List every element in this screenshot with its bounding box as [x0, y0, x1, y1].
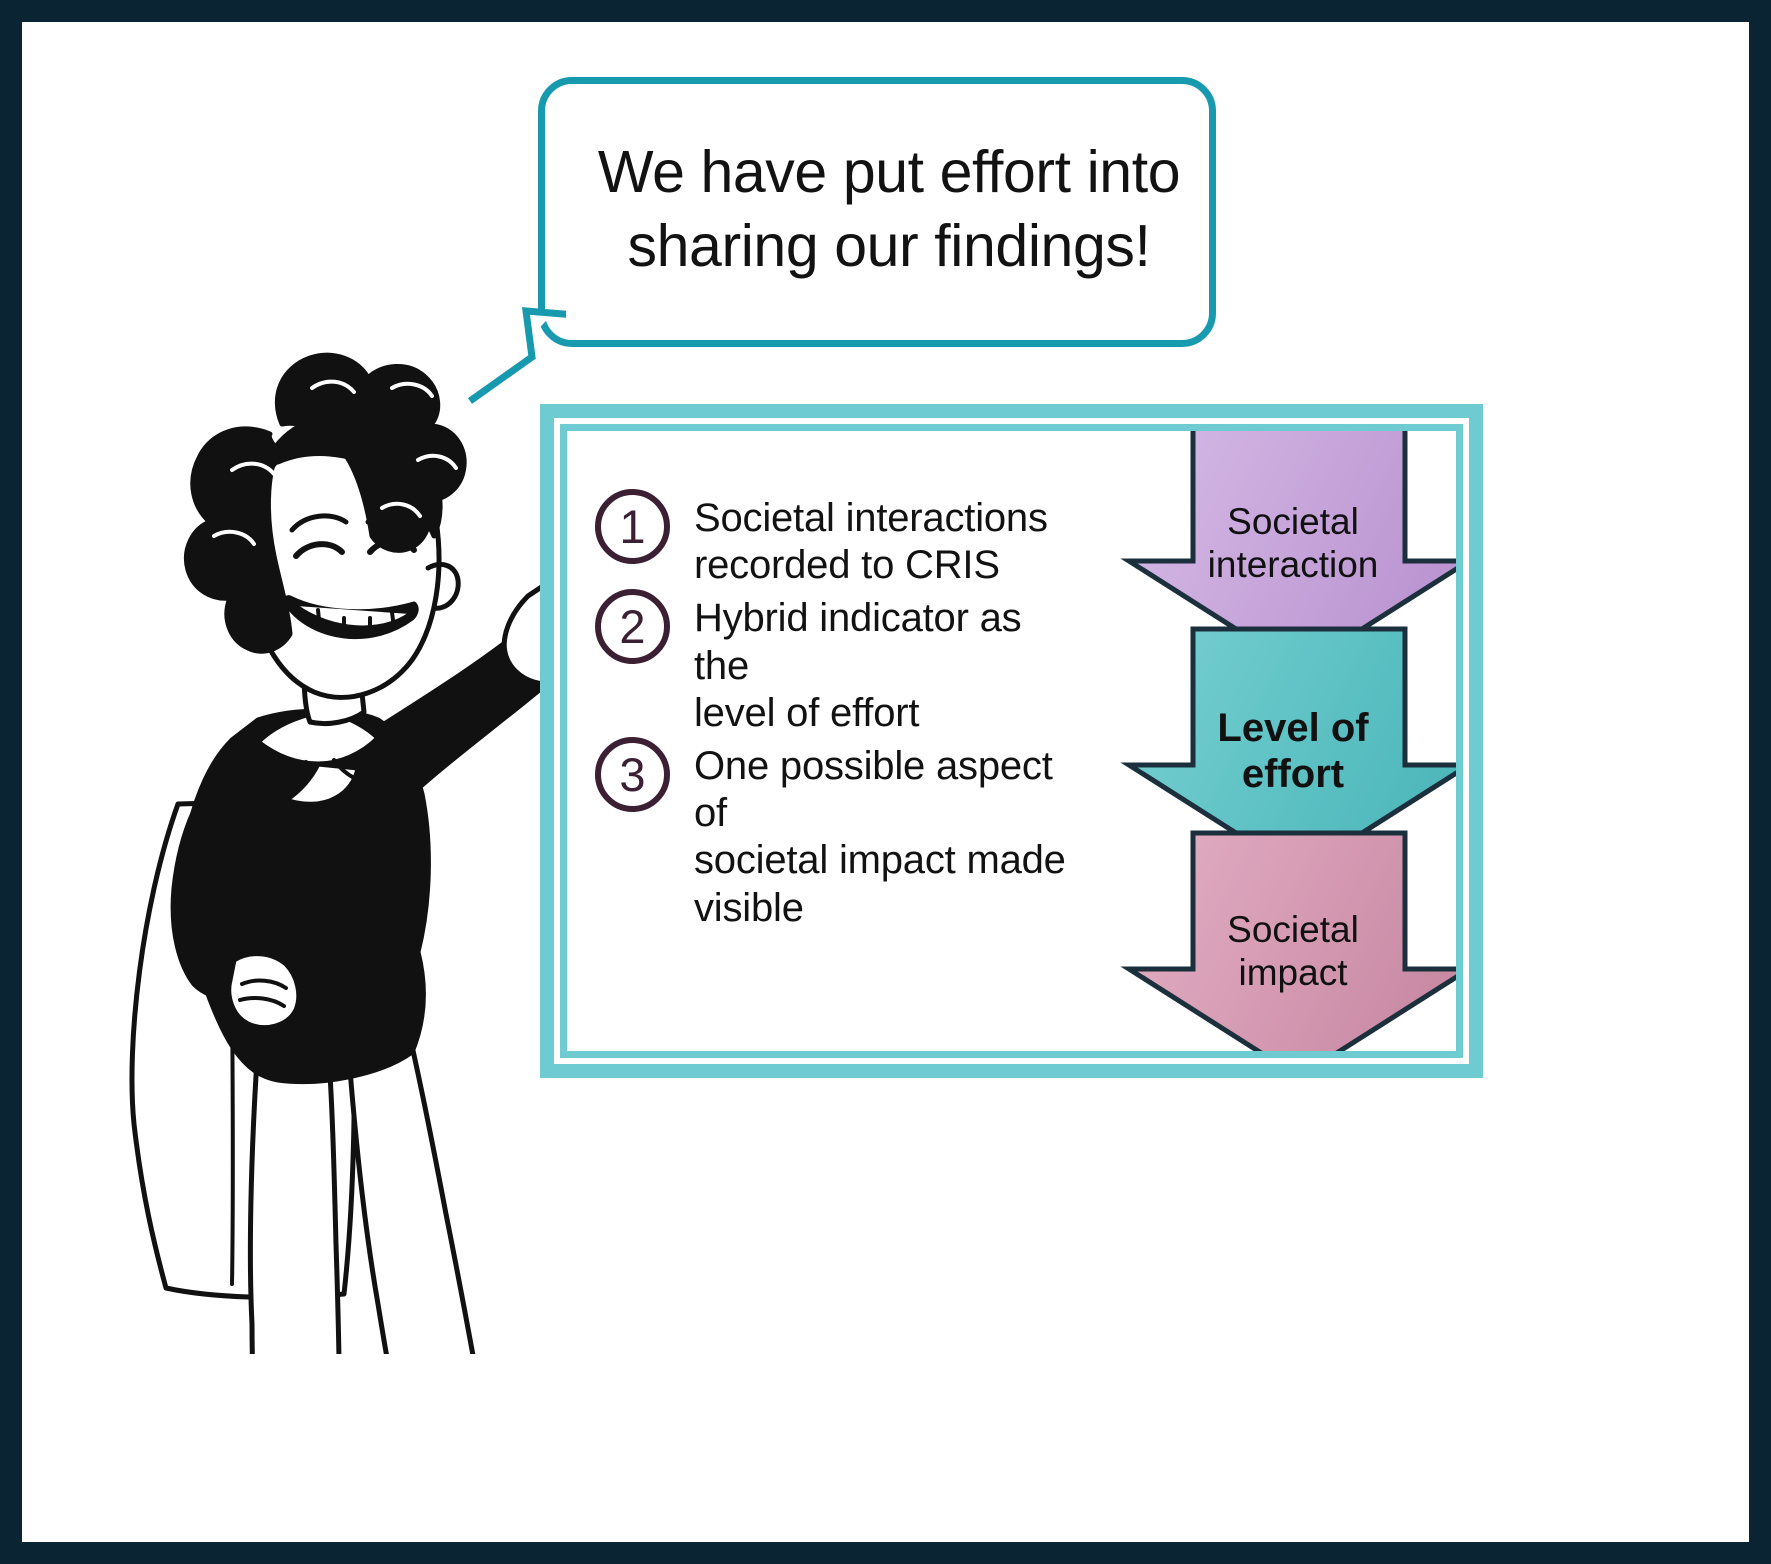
- number-badge-1: 1: [595, 489, 670, 564]
- slide-frame: We have put effort into sharing our find…: [0, 0, 1771, 1564]
- speech-bubble: We have put effort into sharing our find…: [538, 77, 1216, 347]
- list-item-text-3: One possible aspect of societal impact m…: [694, 737, 1085, 932]
- list-item: 1 Societal interactions recorded to CRIS: [595, 489, 1085, 589]
- speech-bubble-text: We have put effort into sharing our find…: [590, 135, 1188, 284]
- number-badge-3: 3: [595, 737, 670, 812]
- info-panel: 1 Societal interactions recorded to CRIS…: [540, 404, 1483, 1078]
- list-item-text-1: Societal interactions recorded to CRIS: [694, 489, 1048, 589]
- panel-inner-ring: 1 Societal interactions recorded to CRIS…: [560, 424, 1463, 1058]
- arrow-stack: Societal interaction: [1113, 431, 1456, 1051]
- list-item: 3 One possible aspect of societal impact…: [595, 737, 1085, 932]
- list-item: 2 Hybrid indicator as the level of effor…: [595, 589, 1085, 737]
- pointing-person-illustration: [82, 284, 602, 1354]
- number-badge-2: 2: [595, 589, 670, 664]
- list-item-text-2: Hybrid indicator as the level of effort: [694, 589, 1085, 737]
- numbered-list: 1 Societal interactions recorded to CRIS…: [595, 465, 1085, 932]
- slide-canvas: We have put effort into sharing our find…: [22, 22, 1749, 1542]
- panel-body: 1 Societal interactions recorded to CRIS…: [567, 431, 1456, 1051]
- panel-outer-gap: 1 Societal interactions recorded to CRIS…: [554, 418, 1469, 1064]
- societal-impact-arrow: Societal impact: [1113, 829, 1456, 1051]
